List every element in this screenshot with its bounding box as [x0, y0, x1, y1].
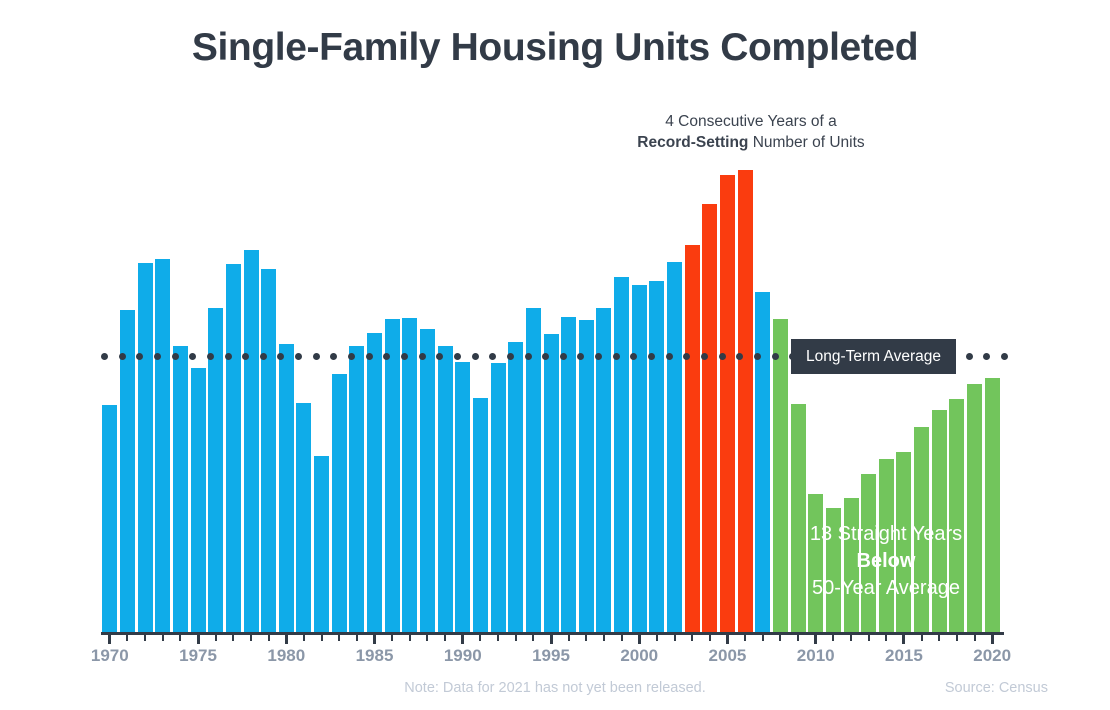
x-tick-1977	[232, 632, 234, 641]
x-tick-2001	[656, 632, 658, 641]
bar-1991	[473, 398, 488, 633]
x-tick-label-1985: 1985	[340, 646, 410, 666]
x-tick-1989	[444, 632, 446, 641]
x-tick-1997	[585, 632, 587, 641]
bar-2004	[702, 204, 717, 633]
x-tick-2004	[709, 632, 711, 641]
bar-2008	[773, 319, 788, 633]
x-tick-2020	[991, 632, 994, 644]
bar-2014	[879, 459, 894, 633]
bar-2000	[632, 285, 647, 633]
bar-2009	[791, 404, 806, 633]
x-tick-1971	[126, 632, 128, 641]
bar-2016	[914, 427, 929, 633]
x-tick-2002	[674, 632, 676, 641]
x-tick-1998	[603, 632, 605, 641]
bar-1998	[596, 308, 611, 633]
x-tick-label-1995: 1995	[516, 646, 586, 666]
x-tick-2019	[974, 632, 976, 641]
record-callout-line1: 4 Consecutive Years of a	[665, 113, 836, 130]
x-tick-2003	[691, 632, 693, 641]
chart-container: Single-Family Housing Units Completed 4 …	[0, 0, 1110, 710]
long-term-average-badge: Long-Term Average	[791, 339, 956, 374]
bar-2015	[896, 452, 911, 634]
x-tick-1974	[179, 632, 181, 641]
bar-2003	[685, 245, 700, 633]
bar-1984	[349, 346, 364, 633]
bar-1976	[208, 308, 223, 633]
x-tick-1981	[303, 632, 305, 641]
x-tick-label-1990: 1990	[428, 646, 498, 666]
bar-1988	[420, 329, 435, 633]
x-tick-2011	[832, 632, 834, 641]
bar-1996	[561, 317, 576, 633]
x-tick-label-2020: 2020	[957, 646, 1027, 666]
x-tick-2017	[938, 632, 940, 641]
average-line-dot	[1001, 353, 1008, 360]
bar-1980	[279, 344, 294, 633]
x-tick-1970	[108, 632, 111, 644]
bar-1975	[191, 368, 206, 633]
x-tick-label-1970: 1970	[75, 646, 145, 666]
bar-2011	[826, 508, 841, 633]
x-tick-2012	[850, 632, 852, 641]
footer-source: Source: Census	[945, 680, 1048, 696]
bar-2010	[808, 494, 823, 633]
x-tick-1979	[268, 632, 270, 641]
x-tick-1991	[479, 632, 481, 641]
bar-1994	[526, 308, 541, 633]
x-tick-2013	[868, 632, 870, 641]
x-tick-1983	[338, 632, 340, 641]
bar-1983	[332, 374, 347, 633]
bar-1972	[138, 263, 153, 633]
bar-1985	[367, 333, 382, 633]
x-tick-2015	[902, 632, 905, 644]
bar-1997	[579, 320, 594, 633]
bar-1971	[120, 310, 135, 633]
x-tick-2005	[726, 632, 729, 644]
bar-2006	[738, 170, 753, 633]
x-tick-2014	[885, 632, 887, 641]
x-tick-1972	[144, 632, 146, 641]
x-tick-1982	[321, 632, 323, 641]
bar-1987	[402, 318, 417, 633]
x-tick-1984	[356, 632, 358, 641]
x-tick-1985	[373, 632, 376, 644]
x-tick-1995	[550, 632, 553, 644]
x-tick-label-2015: 2015	[869, 646, 939, 666]
bar-2001	[649, 281, 664, 633]
record-setting-callout: 4 Consecutive Years of a Record-Setting …	[571, 112, 931, 154]
x-tick-label-1975: 1975	[163, 646, 233, 666]
bar-2005	[720, 175, 735, 633]
x-tick-2016	[921, 632, 923, 641]
bar-2017	[932, 410, 947, 633]
bar-1982	[314, 456, 329, 633]
record-callout-emphasis: Record-Setting	[637, 134, 748, 151]
bar-1986	[385, 319, 400, 633]
bar-2012	[844, 498, 859, 633]
x-tick-2018	[956, 632, 958, 641]
bar-1974	[173, 346, 188, 633]
x-tick-1986	[391, 632, 393, 641]
bar-2007	[755, 292, 770, 633]
x-tick-1994	[532, 632, 534, 641]
bar-2013	[861, 474, 876, 633]
x-tick-1990	[461, 632, 464, 644]
x-tick-1987	[409, 632, 411, 641]
bar-1978	[244, 250, 259, 633]
bar-1993	[508, 342, 523, 633]
x-tick-2000	[638, 632, 641, 644]
x-tick-2010	[814, 632, 817, 644]
x-tick-2007	[762, 632, 764, 641]
bar-2020	[985, 378, 1000, 633]
bar-1973	[155, 259, 170, 633]
x-tick-2006	[744, 632, 746, 641]
record-callout-line2-rest: Number of Units	[748, 134, 864, 151]
bar-1995	[544, 334, 559, 633]
bar-1970	[102, 405, 117, 633]
bar-1999	[614, 277, 629, 633]
bar-2019	[967, 384, 982, 633]
x-tick-1993	[515, 632, 517, 641]
plot-area	[101, 140, 1001, 633]
bar-1979	[261, 269, 276, 633]
x-tick-2009	[797, 632, 799, 641]
x-tick-1992	[497, 632, 499, 641]
x-tick-label-2000: 2000	[604, 646, 674, 666]
bar-1981	[296, 403, 311, 633]
x-tick-1988	[426, 632, 428, 641]
bar-1989	[438, 346, 453, 633]
x-tick-1975	[197, 632, 200, 644]
x-tick-1978	[250, 632, 252, 641]
page-title: Single-Family Housing Units Completed	[0, 26, 1110, 70]
x-tick-1999	[621, 632, 623, 641]
bar-1992	[491, 363, 506, 633]
x-tick-2008	[779, 632, 781, 641]
x-tick-1996	[568, 632, 570, 641]
x-tick-1976	[215, 632, 217, 641]
x-tick-1973	[162, 632, 164, 641]
bar-2018	[949, 399, 964, 633]
bar-1977	[226, 264, 241, 633]
x-tick-1980	[285, 632, 288, 644]
x-tick-label-2005: 2005	[692, 646, 762, 666]
bar-1990	[455, 362, 470, 633]
x-tick-label-2010: 2010	[781, 646, 851, 666]
x-tick-label-1980: 1980	[251, 646, 321, 666]
footer-note: Note: Data for 2021 has not yet been rel…	[0, 680, 1110, 696]
bar-2002	[667, 262, 682, 633]
